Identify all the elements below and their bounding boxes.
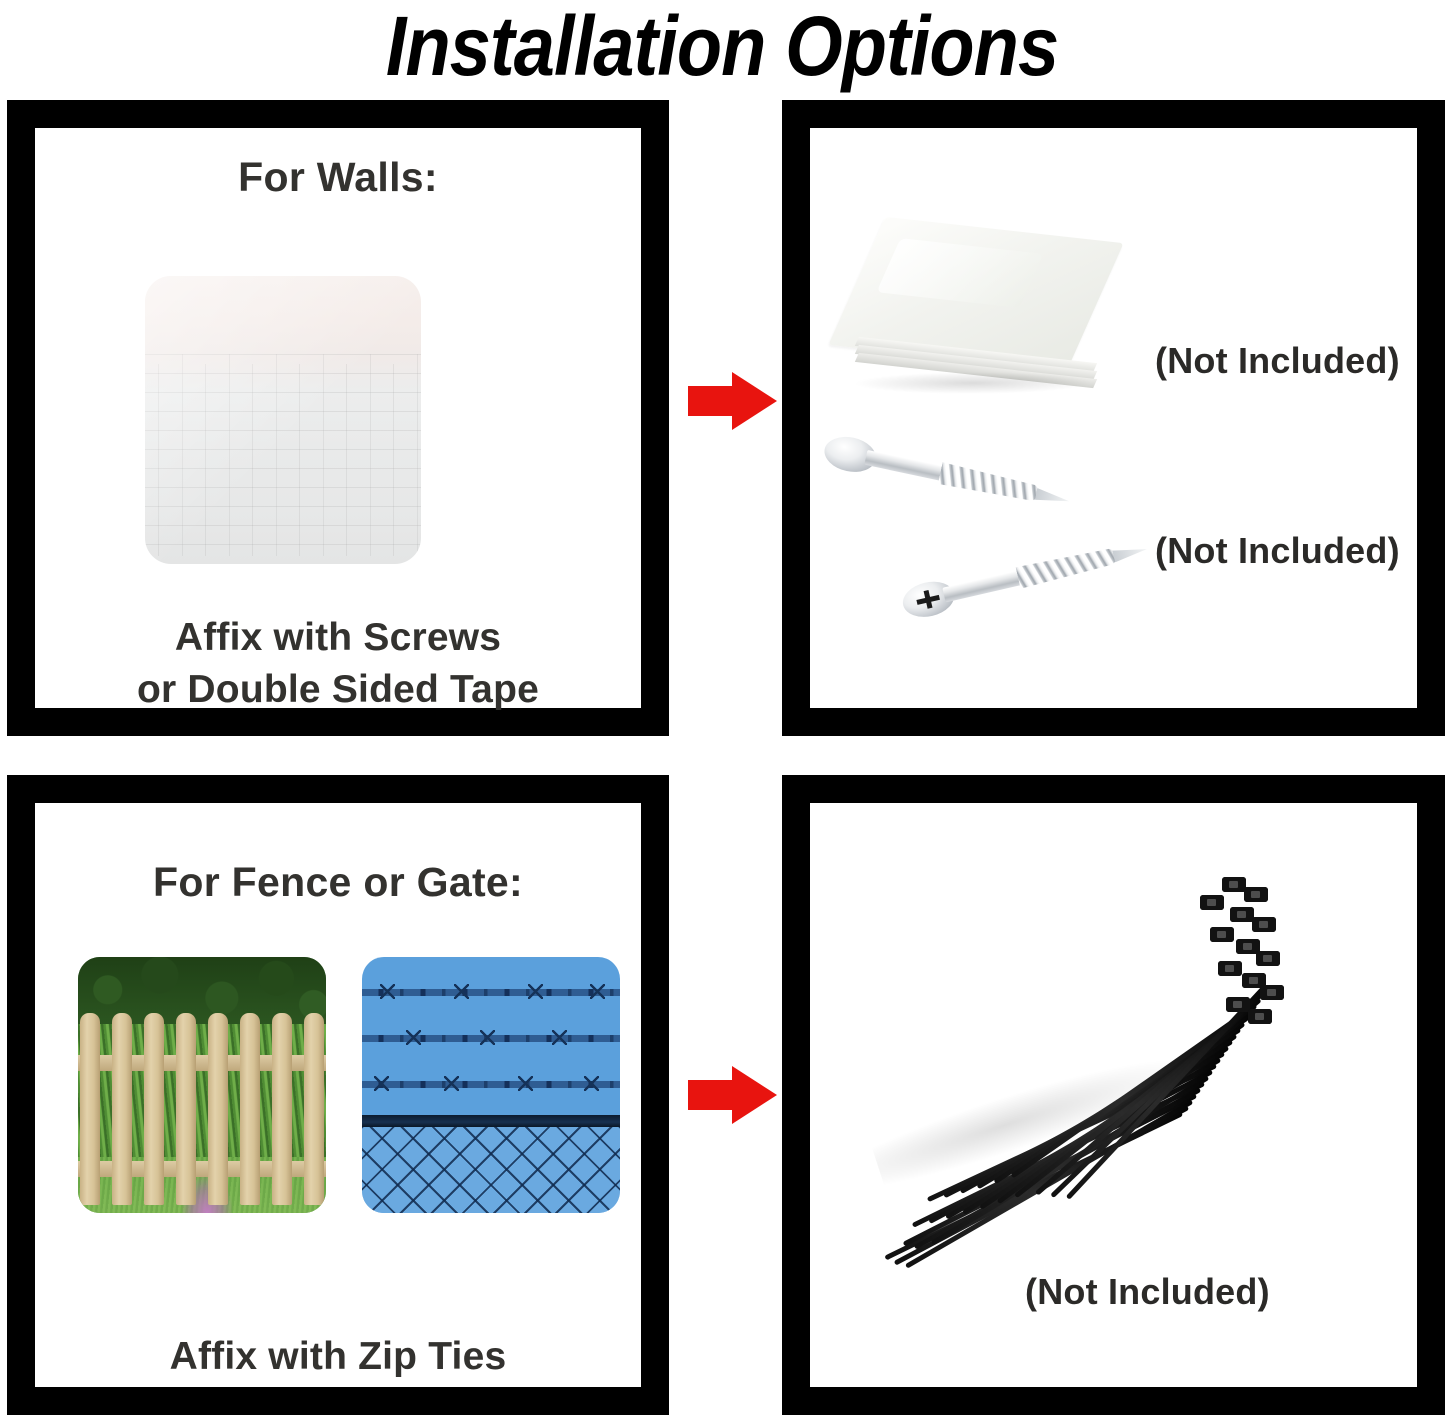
- page-title: Installation Options: [386, 4, 1058, 88]
- wire-barb: [406, 1030, 421, 1045]
- for-walls-caption-line1: Affix with Screws: [35, 612, 641, 665]
- zip-tie-head: [1248, 1009, 1272, 1024]
- red-right-arrow-icon-top: [688, 372, 776, 430]
- panel-zip-ties: (Not Included): [782, 775, 1445, 1415]
- screw-thread: [1015, 542, 1126, 591]
- panel-wall-hardware-inner: (Not Included) (Not Included): [810, 128, 1417, 708]
- fence-picket: [176, 1013, 196, 1205]
- panel-for-walls-inner: For Walls: Affix with Screws or Double S…: [35, 128, 641, 708]
- wire-barb: [518, 1076, 533, 1091]
- picket-group: [78, 1013, 326, 1205]
- screw-icon: [899, 532, 1150, 621]
- fence-picket: [208, 1013, 228, 1205]
- wire-barb: [374, 1076, 389, 1091]
- for-walls-heading: For Walls:: [35, 154, 641, 201]
- wood-fence-scene: [78, 957, 326, 1213]
- barbed-wire: [362, 989, 620, 996]
- image-sheen: [145, 276, 421, 564]
- wire-barb: [590, 984, 605, 999]
- zip-tie-head: [1226, 997, 1250, 1012]
- chain-fence-scene: [362, 957, 620, 1213]
- fence-picket: [240, 1013, 260, 1205]
- arrow-head: [732, 372, 777, 430]
- wooden-picket-fence-image: [78, 957, 326, 1213]
- bundle-band: [1048, 961, 1122, 1069]
- zip-tie-head: [1260, 985, 1284, 1000]
- red-right-arrow-icon-bottom: [688, 1066, 776, 1124]
- for-fence-caption: Affix with Zip Ties: [35, 1331, 641, 1384]
- fence-picket: [80, 1013, 100, 1205]
- wire-barb: [380, 984, 395, 999]
- screw-tip: [1112, 543, 1148, 562]
- page-title-bar: Installation Options: [0, 0, 1445, 96]
- double-sided-tape-stack-image: [845, 222, 1115, 400]
- wire-barb: [552, 1030, 567, 1045]
- zip-tie-head: [1256, 951, 1280, 966]
- screws-not-included-label: (Not Included): [1155, 530, 1400, 572]
- zipties-not-included-label: (Not Included): [1025, 1271, 1270, 1313]
- chain-link-mesh: [362, 1127, 620, 1213]
- zip-tie-head: [1230, 907, 1254, 922]
- zip-tie-head-cluster: [1126, 873, 1276, 1073]
- wire-barb: [444, 1076, 459, 1091]
- tape-shadow: [848, 372, 1098, 394]
- zip-tie-head: [1218, 961, 1242, 976]
- panel-zip-ties-inner: (Not Included): [810, 803, 1417, 1387]
- screw-icon: [821, 432, 1073, 517]
- for-walls-caption-line2: or Double Sided Tape: [35, 664, 641, 717]
- barbed-wire: [362, 1081, 620, 1088]
- tape-not-included-label: (Not Included): [1155, 340, 1400, 382]
- fence-picket: [112, 1013, 132, 1205]
- zip-tie-head: [1200, 895, 1224, 910]
- fence-picket: [144, 1013, 164, 1205]
- zip-tie-head: [1222, 877, 1246, 892]
- zip-tie-head: [1252, 917, 1276, 932]
- fence-picket: [304, 1013, 324, 1205]
- white-brick-wall-image: [145, 276, 421, 564]
- fence-picket: [272, 1013, 292, 1205]
- zip-tie-head: [1244, 887, 1268, 902]
- phillips-cross-icon: [915, 588, 941, 611]
- wire-barb: [528, 984, 543, 999]
- screw-tip: [1035, 488, 1071, 507]
- panel-for-fence-or-gate: For Fence or Gate:: [7, 775, 669, 1415]
- panel-wall-hardware: (Not Included) (Not Included): [782, 100, 1445, 736]
- for-fence-heading: For Fence or Gate:: [35, 859, 641, 906]
- wire-barb: [454, 984, 469, 999]
- chain-link-fence-image: [362, 957, 620, 1213]
- panel-for-walls: For Walls: Affix with Screws or Double S…: [7, 100, 669, 736]
- fence-top-rail: [362, 1115, 620, 1127]
- arrow-head: [732, 1066, 777, 1124]
- wire-barb: [480, 1030, 495, 1045]
- screw-thread: [938, 461, 1049, 508]
- panel-for-fence-inner: For Fence or Gate:: [35, 803, 641, 1387]
- zip-tie-head: [1210, 927, 1234, 942]
- zip-ties-bundle-image: [840, 873, 1280, 1253]
- wire-barb: [584, 1076, 599, 1091]
